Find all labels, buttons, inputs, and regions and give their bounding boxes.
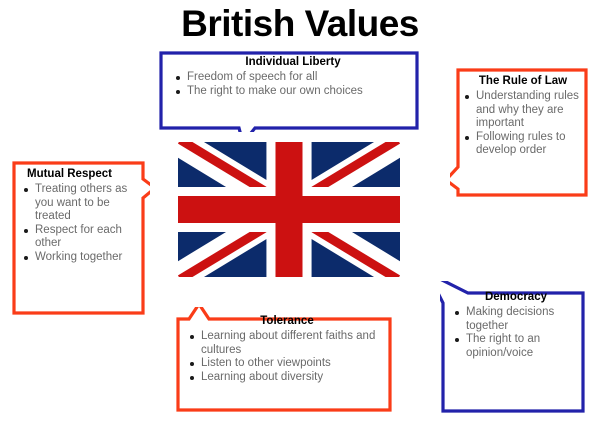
callout-bullet-list: Treating others as you want to be treate… bbox=[23, 183, 144, 264]
callout-bullet-list: Learning about different faiths and cult… bbox=[189, 330, 385, 384]
page-title: British Values bbox=[0, 2, 600, 46]
callout-bullet-list: Making decisions together The right to a… bbox=[454, 306, 578, 360]
callout-tolerance[interactable]: Tolerance Learning about different faith… bbox=[175, 307, 393, 413]
list-item: Working together bbox=[23, 251, 144, 265]
british-values-diagram: British Values bbox=[0, 0, 600, 431]
list-item: Making decisions together bbox=[454, 306, 578, 333]
list-item: The right to an opinion/voice bbox=[454, 333, 578, 360]
callout-title: The Rule of Law bbox=[464, 74, 582, 88]
list-item: Listen to other viewpoints bbox=[189, 357, 385, 371]
callout-title: Mutual Respect bbox=[23, 167, 144, 181]
list-item: Respect for each other bbox=[23, 224, 144, 251]
callout-title: Tolerance bbox=[189, 314, 385, 328]
callout-bullet-list: Understanding rules and why they are imp… bbox=[464, 90, 582, 158]
callout-democracy[interactable]: Democracy Making decisions together The … bbox=[440, 281, 586, 414]
list-item: Following rules to develop order bbox=[464, 131, 582, 158]
list-item: Learning about different faiths and cult… bbox=[189, 330, 385, 357]
callout-title: Individual Liberty bbox=[175, 55, 411, 69]
list-item: Treating others as you want to be treate… bbox=[23, 183, 144, 224]
union-jack-flag bbox=[178, 142, 400, 277]
callout-rule-of-law[interactable]: The Rule of Law Understanding rules and … bbox=[450, 67, 590, 198]
list-item: Understanding rules and why they are imp… bbox=[464, 90, 582, 131]
callout-title: Democracy bbox=[454, 290, 578, 304]
list-item: Learning about diversity bbox=[189, 371, 385, 385]
callout-mutual-respect[interactable]: Mutual Respect Treating others as you wa… bbox=[11, 160, 150, 316]
list-item: Freedom of speech for all bbox=[175, 71, 411, 85]
list-item: The right to make our own choices bbox=[175, 85, 411, 99]
callout-individual-liberty[interactable]: Individual Liberty Freedom of speech for… bbox=[157, 49, 421, 132]
callout-bullet-list: Freedom of speech for all The right to m… bbox=[175, 71, 411, 98]
